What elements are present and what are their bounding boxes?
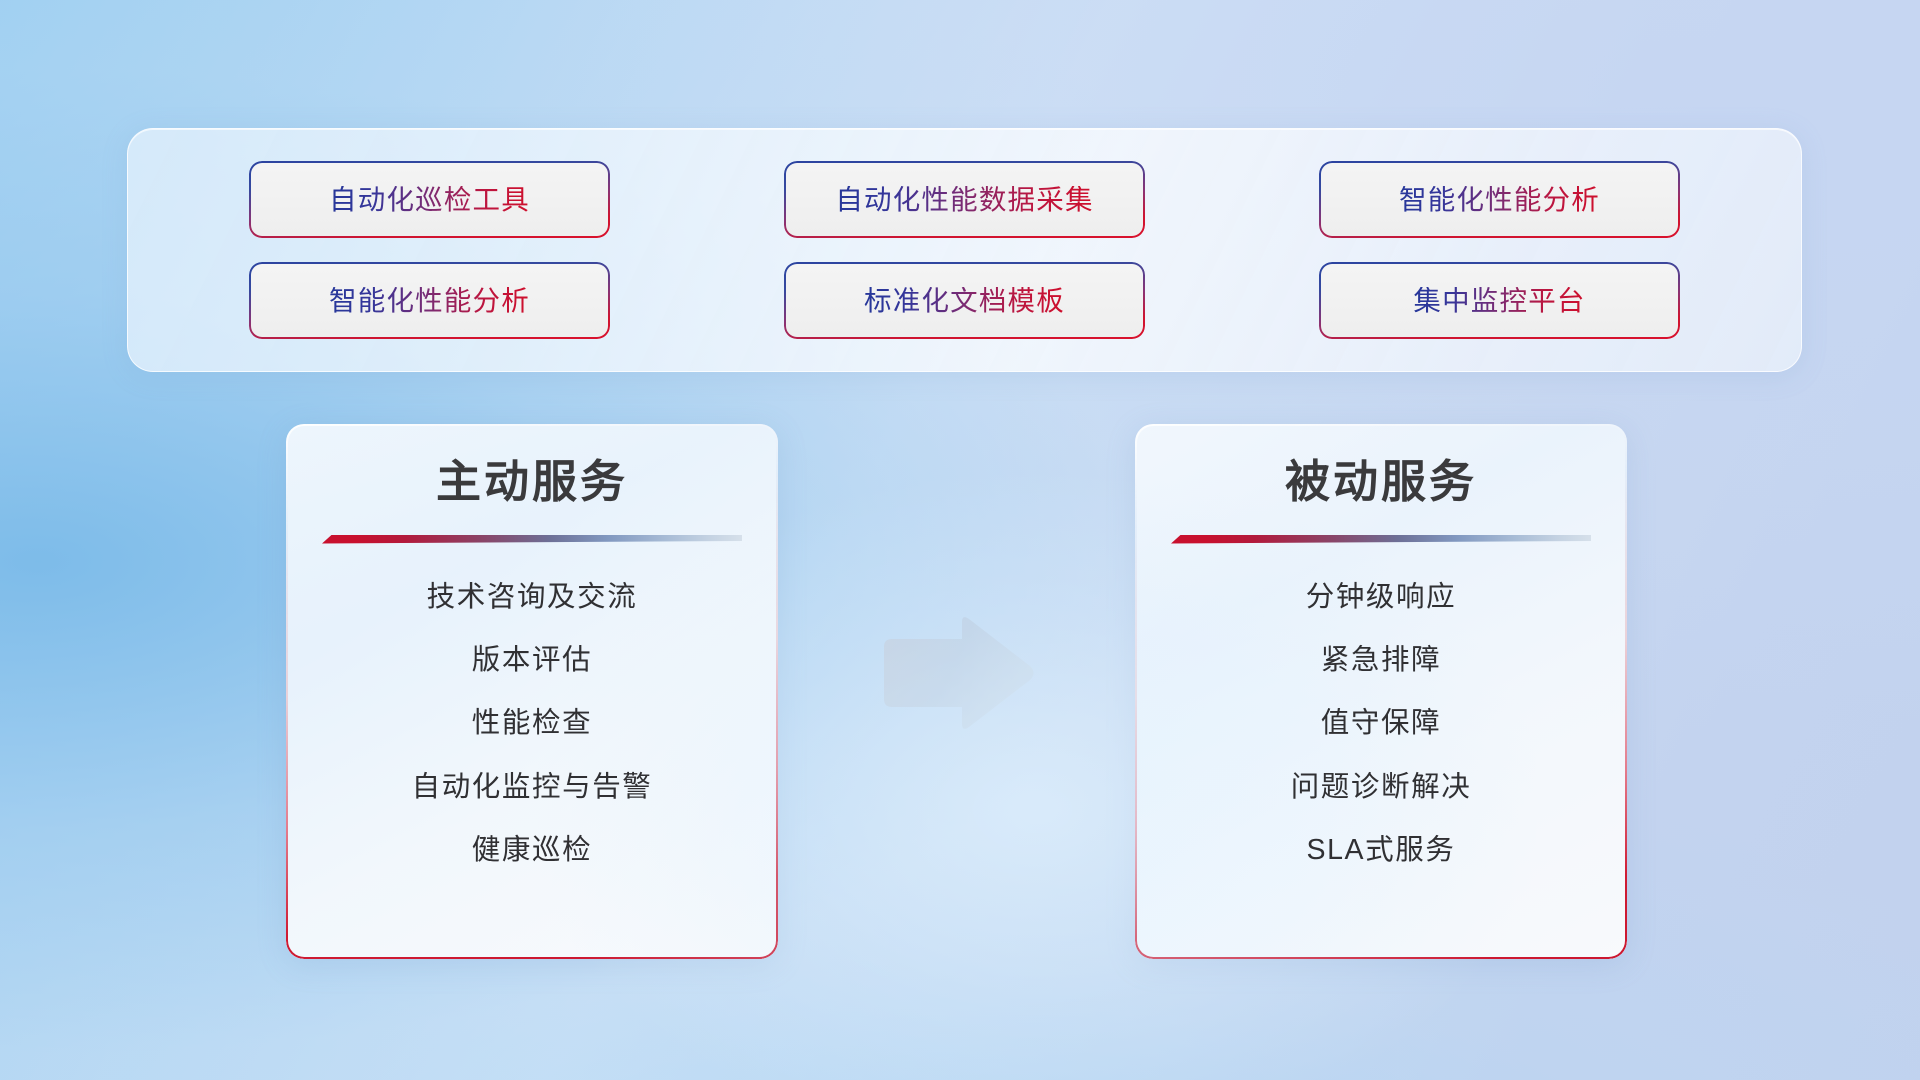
service-card-body: 主动服务 技术咨询及交流 版本评估 性能检查 自动化监控与告警 健康巡检: [286, 424, 778, 959]
service-item-list: 分钟级响应 紧急排障 值守保障 问题诊断解决 SLA式服务: [1135, 582, 1627, 867]
capability-chip-2[interactable]: 自动化性能数据采集: [786, 163, 1143, 236]
capability-chip-6[interactable]: 集中监控平台: [1321, 264, 1678, 337]
service-item: SLA式服务: [1307, 835, 1456, 866]
capability-chip-5[interactable]: 标准化文档模板: [786, 264, 1143, 337]
capability-chip-label: 智能化性能分析: [1399, 186, 1600, 214]
flow-arrow: [878, 613, 1038, 733]
service-card-title: 主动服务: [436, 457, 628, 507]
service-item: 自动化监控与告警: [412, 772, 653, 803]
service-item: 紧急排障: [1321, 645, 1441, 676]
service-item: 问题诊断解决: [1291, 772, 1472, 803]
service-item: 分钟级响应: [1306, 582, 1457, 613]
capability-chip-label: 集中监控平台: [1413, 287, 1585, 315]
slide-canvas: 自动化巡检工具 自动化性能数据采集 智能化性能分析 智能化性能分析 标准化文档模…: [0, 0, 1920, 1080]
capability-chip-3[interactable]: 智能化性能分析: [1321, 163, 1678, 236]
capability-chip-4[interactable]: 智能化性能分析: [251, 264, 608, 337]
capability-chip-1[interactable]: 自动化巡检工具: [251, 163, 608, 236]
service-card-active[interactable]: 主动服务 技术咨询及交流 版本评估 性能检查 自动化监控与告警 健康巡检: [286, 424, 778, 959]
service-item: 技术咨询及交流: [427, 582, 638, 613]
title-divider: [322, 535, 742, 544]
service-item: 值守保障: [1321, 708, 1441, 739]
service-card-body: 被动服务 分钟级响应 紧急排障 值守保障 问题诊断解决 SLA式服务: [1135, 424, 1627, 959]
service-item: 性能检查: [472, 708, 592, 739]
service-item-list: 技术咨询及交流 版本评估 性能检查 自动化监控与告警 健康巡检: [286, 582, 778, 867]
capability-chip-label: 标准化文档模板: [864, 287, 1065, 315]
service-item: 健康巡检: [472, 835, 592, 866]
capability-chip-label: 自动化巡检工具: [329, 186, 530, 214]
service-card-passive[interactable]: 被动服务 分钟级响应 紧急排障 值守保障 问题诊断解决 SLA式服务: [1135, 424, 1627, 959]
service-card-title: 被动服务: [1285, 457, 1477, 507]
arrow-right-icon: [878, 613, 1038, 733]
capability-panel: 自动化巡检工具 自动化性能数据采集 智能化性能分析 智能化性能分析 标准化文档模…: [127, 128, 1802, 372]
capability-chip-label: 智能化性能分析: [329, 287, 530, 315]
title-divider: [1171, 535, 1591, 544]
service-item: 版本评估: [472, 645, 592, 676]
capability-chip-label: 自动化性能数据采集: [835, 186, 1093, 214]
